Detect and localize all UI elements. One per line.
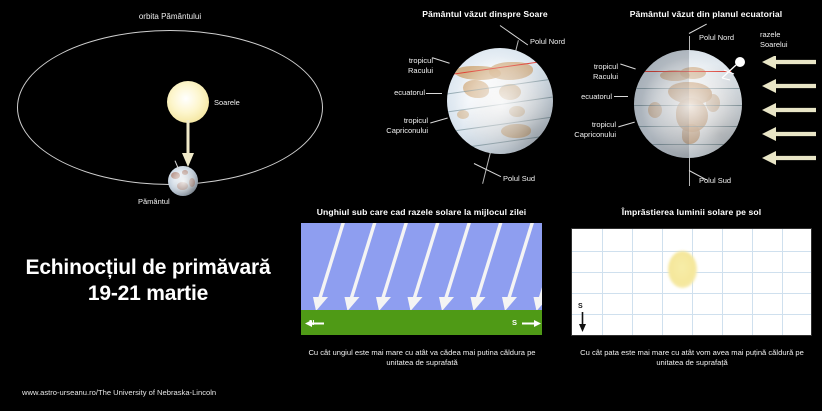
direction-label-north: N: [309, 318, 314, 327]
grid-line-vertical: [722, 229, 723, 335]
grid-line-vertical: [752, 229, 753, 335]
globe-sun-view-heading: Pământul văzut dinspre Soare: [390, 9, 580, 19]
leader-line: [426, 93, 442, 94]
globe-eq-tropic-capricorn-label: tropicul Capriconului: [560, 120, 616, 139]
globe-eq-tropic-cancer-label: tropicul Racului: [570, 62, 618, 81]
grid-line-horizontal: [572, 293, 811, 294]
grid-line-vertical: [632, 229, 633, 335]
orbit-title: orbita Pământului: [0, 12, 340, 22]
globe-eq-equator-label: ecuatorul: [562, 92, 612, 102]
globe-eq-north-pole-label: Polul Nord: [699, 33, 734, 43]
globe-equatorial-heading: Pământul văzut din planul ecuatorial: [598, 9, 814, 19]
scatter-panel-caption: Cu cât pata este mai mare cu atât vom av…: [566, 348, 818, 369]
globe-sun-equator-label: ecuatorul: [373, 88, 425, 98]
globe-eq-south-pole-label: Polul Sud: [699, 176, 731, 186]
observer-marker-icon: [718, 56, 748, 82]
grid-line-vertical: [602, 229, 603, 335]
sun-icon: [167, 81, 209, 123]
earth-orbit-icon: [168, 166, 198, 196]
north-arrow-icon: [305, 319, 325, 328]
scatter-axis-label: S: [578, 303, 583, 310]
globe-sun-north-pole-label: Polul Nord: [530, 37, 565, 47]
globe-sun-tropic-cancer-label: tropicul Racului: [381, 56, 433, 75]
grid-line-horizontal: [572, 314, 811, 315]
globe-sun-south-pole-label: Polul Sud: [503, 174, 535, 184]
infographic-canvas: orbita Pământului Soarele Pământul Pămân…: [0, 0, 822, 411]
ground-strip: [301, 310, 542, 335]
grid-line-horizontal: [572, 335, 811, 336]
latitude-line: [447, 134, 553, 151]
solar-angle-diagram: [301, 223, 542, 335]
grid-line-vertical: [782, 229, 783, 335]
angle-panel-caption: Cu cât ungiul este mai mare cu atât va c…: [296, 348, 548, 369]
sun-rays-arrow-group: [760, 56, 818, 166]
page-title-line1: Echinocțiul de primăvară: [0, 255, 296, 281]
grid-line-horizontal: [572, 251, 811, 252]
direction-label-south: S: [512, 318, 517, 327]
south-arrow-icon: [521, 319, 541, 328]
page-title: Echinocțiul de primăvară 19-21 martie: [0, 255, 296, 307]
light-spread-diagram: [571, 228, 812, 336]
leader-line: [430, 118, 448, 124]
leader-line: [618, 122, 635, 128]
grid-line-vertical: [662, 229, 663, 335]
sun-label: Soarele: [214, 98, 240, 108]
page-title-line2: 19-21 martie: [0, 281, 296, 307]
leader-line: [500, 25, 528, 45]
light-spot: [668, 251, 697, 288]
footer-credit: www.astro-urseanu.ro/The University of N…: [22, 388, 216, 397]
earth-label: Pământul: [138, 197, 170, 207]
globe-sun-sphere: [447, 48, 553, 154]
scatter-panel-heading: Împrăstierea luminii solare pe sol: [571, 207, 812, 217]
sun-rays-label: razele Soarelui: [760, 30, 818, 50]
angle-panel-heading: Unghiul sub care cad razele solare la mi…: [301, 207, 542, 217]
scatter-down-arrow-icon: [578, 312, 587, 332]
leader-line: [432, 57, 449, 64]
sunlight-direction-arrow: [181, 120, 195, 168]
leader-line: [614, 96, 628, 97]
globe-sun-tropic-capricorn-label: tropicul Capriconului: [372, 116, 428, 135]
